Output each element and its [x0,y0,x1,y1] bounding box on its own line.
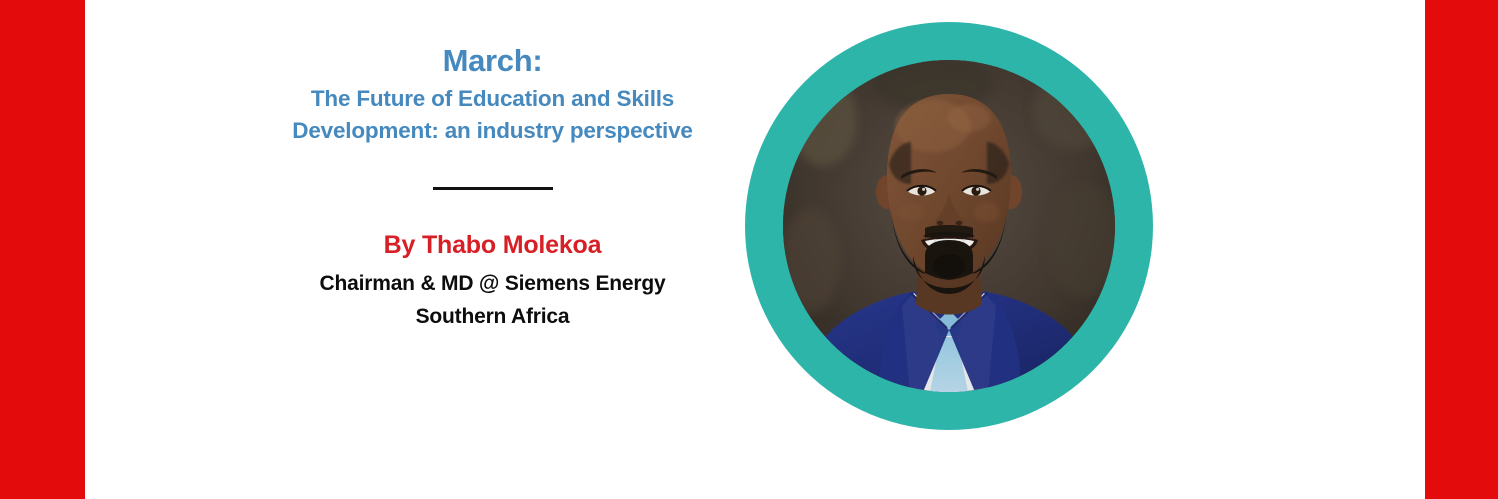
speaker-portrait-ring [745,22,1153,430]
speaker-role-line-2: Southern Africa [200,301,785,334]
divider [200,187,785,190]
left-red-bar [0,0,85,499]
session-title-line-1: The Future of Education and Skills [200,83,785,115]
speaker-text-column: March: The Future of Education and Skill… [200,44,785,333]
divider-rule [433,187,553,190]
right-red-bar [1425,0,1498,499]
speaker-byline: By Thabo Molekoa [200,230,785,260]
portrait-illustration [783,60,1115,392]
speaker-portrait-photo [783,60,1115,392]
speaker-role-line-1: Chairman & MD @ Siemens Energy [200,268,785,301]
session-title-line-2: Development: an industry perspective [200,115,785,147]
speaker-announcement-slide: March: The Future of Education and Skill… [0,0,1498,499]
month-title: March: [200,44,785,77]
